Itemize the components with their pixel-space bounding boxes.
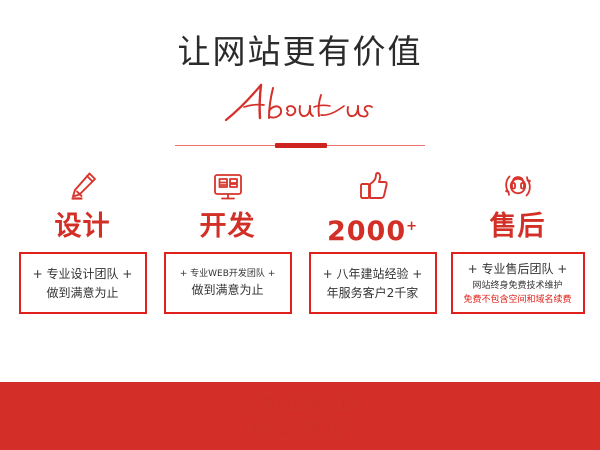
feature-boxes: + 专业设计团队 + 做到满意为止 + 专业WEB开发团队 + 做到满意为止 +… (0, 252, 600, 314)
feature-box-slot: + 专业售后团队 + 网站终身免费技术维护 免费不包含空间和域名续费 (445, 252, 590, 314)
divider-accent-bar (275, 143, 327, 148)
page-title: 让网站更有价值 (0, 32, 600, 72)
feature-box-clients: + 八年建站经验 + 年服务客户2千家 (309, 252, 437, 314)
feature-column-design: 设计 (10, 166, 155, 243)
feature-box-line: + 专业售后团队 + (468, 260, 568, 279)
feature-column-development: 开发 (155, 166, 300, 243)
feature-box-line: 做到满意为止 (191, 281, 263, 300)
divider (175, 142, 425, 149)
feature-box-slot: + 八年建站经验 + 年服务客户2千家 (300, 252, 445, 314)
monitor-icon (211, 166, 245, 206)
feature-box-support: + 专业售后团队 + 网站终身免费技术维护 免费不包含空间和域名续费 (451, 252, 585, 314)
pencil-icon (66, 166, 100, 206)
feature-box-line: 年服务客户2千家 (327, 284, 419, 303)
feature-columns: 设计 开发 (0, 166, 600, 248)
feature-label: 售后 (490, 210, 546, 243)
band-watermark-line-1: 让网站更有价值 (0, 394, 600, 416)
feature-label: 设计 (55, 210, 111, 243)
about-us-script-icon (220, 78, 380, 124)
header-block: 让网站更有价值 (0, 32, 600, 124)
support-headset-icon (501, 166, 535, 206)
feature-column-clients: 2000+ (300, 166, 445, 248)
feature-box-note: 免费不包含空间和域名续费 (463, 293, 571, 307)
feature-box-design: + 专业设计团队 + 做到满意为止 (19, 252, 147, 314)
feature-label-text: 售后 (490, 211, 546, 242)
feature-box-line: + 八年建站经验 + (323, 265, 423, 284)
feature-label-text: 2000 (327, 216, 406, 247)
feature-box-line: + 专业WEB开发团队 + (180, 267, 276, 281)
feature-box-slot: + 专业设计团队 + 做到满意为止 (10, 252, 155, 314)
bottom-red-band: 让网站更有价值 网站建设 (0, 382, 600, 450)
feature-column-support: 售后 (445, 166, 590, 243)
feature-box-development: + 专业WEB开发团队 + 做到满意为止 (164, 252, 292, 314)
feature-box-line: 做到满意为止 (46, 284, 118, 303)
feature-label-text: 设计 (55, 211, 111, 242)
feature-box-line: + 专业设计团队 + (33, 265, 133, 284)
feature-label-text: 开发 (200, 211, 256, 242)
thumbs-up-icon (356, 166, 390, 206)
feature-box-line: 网站终身免费技术维护 (472, 279, 562, 293)
feature-label-superscript: + (406, 219, 418, 234)
feature-label: 开发 (200, 210, 256, 243)
feature-label: 2000+ (327, 210, 418, 248)
about-us-banner: 让网站更有价值 (0, 0, 600, 450)
band-watermark-line-2: 网站建设 (0, 416, 600, 444)
feature-box-slot: + 专业WEB开发团队 + 做到满意为止 (155, 252, 300, 314)
script-subtitle: About us (0, 78, 600, 124)
